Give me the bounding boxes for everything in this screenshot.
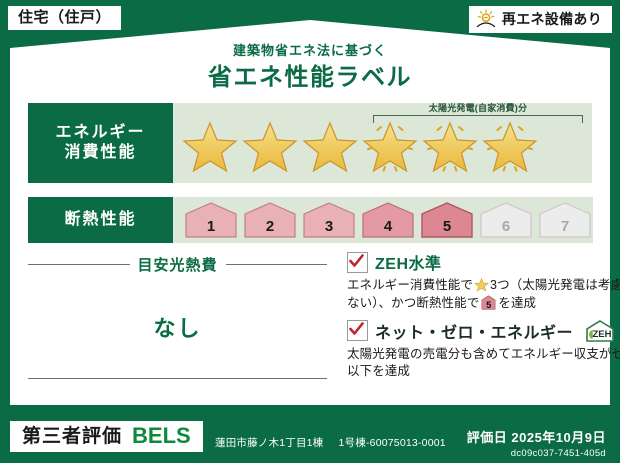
utility-cost-panel: 目安光熱費 なし <box>20 250 335 400</box>
criterion-nze-header: ネット・ゼロ・エネルギー ZEH 「ZEH」 <box>347 319 620 343</box>
evaluation-date-line: 評価日 2025年10月9日 <box>467 427 606 446</box>
evaluation-date-label: 評価日 <box>467 430 508 445</box>
rule-left <box>28 264 130 265</box>
criterion-zeh-title: ZEH水準 <box>375 250 442 274</box>
criteria-panel: ZEH水準 エネルギー消費性能で3つ（太陽光発電は考慮しない）、かつ断熱性能で5… <box>335 250 620 400</box>
house-icon-level-1: 1 <box>183 201 239 239</box>
star-icon-solar <box>421 118 479 174</box>
zeh-desc-part3: を達成 <box>498 296 536 310</box>
insulation-performance-label: 断熱性能 <box>28 197 173 243</box>
insulation-performance-value: 1 2 3 4 5 <box>173 197 593 243</box>
bels-logo: BELS <box>132 425 191 447</box>
rule-right <box>226 264 328 265</box>
energy-label-line2: 消費性能 <box>64 143 136 163</box>
insulation-level-number: 6 <box>478 218 534 235</box>
inline-house-icon: 5 <box>481 295 496 310</box>
insulation-level-scale: 1 2 3 4 5 <box>173 201 593 239</box>
house-icon-level-7: 7 <box>537 201 593 239</box>
insulation-level-number: 1 <box>183 218 239 235</box>
property-address: 蓮田市藤ノ木1丁目1棟 1号棟-60075013-0001 <box>215 435 446 450</box>
star-icon <box>241 118 299 174</box>
evaluation-date-value: 2025年10月9日 <box>511 430 606 445</box>
house-icon-level-2: 2 <box>242 201 298 239</box>
utility-cost-label: 目安光熱費 <box>138 254 218 275</box>
checkbox-net-zero-energy[interactable] <box>347 320 368 341</box>
criterion-nze-title: ネット・ゼロ・エネルギー <box>375 319 573 343</box>
solar-annotation-label: 太陽光発電(自家消費)分 <box>373 101 583 114</box>
footer: 第三者評価 BELS 蓮田市藤ノ木1丁目1棟 1号棟-60075013-0001… <box>0 413 620 463</box>
star-icon <box>181 118 239 174</box>
utility-cost-heading: 目安光熱費 <box>20 254 335 275</box>
utility-cost-bottom-rule <box>28 378 327 379</box>
inline-house-number: 5 <box>481 301 496 310</box>
address-text: 蓮田市藤ノ木1丁目1棟 <box>215 437 323 449</box>
bels-energy-label: 住宅（住戸） 再エネ設備あり 建築物省エネ法に基づく 省エネ性能ラベル エネルギ… <box>0 0 620 463</box>
sun-icon <box>475 9 497 29</box>
zeh-desc-part1: エネルギー消費性能で <box>347 278 473 292</box>
insulation-level-number: 5 <box>419 218 475 235</box>
insulation-level-number: 3 <box>301 218 357 235</box>
renewable-equipment-badge: 再エネ設備あり <box>469 6 612 33</box>
star-rating <box>173 118 539 174</box>
building-type-badge: 住宅（住戸） <box>8 6 121 30</box>
insulation-level-number: 2 <box>242 218 298 235</box>
energy-performance-row: エネルギー 消費性能 太陽光発電(自家消費)分 <box>28 103 592 183</box>
star-icon <box>301 118 359 174</box>
energy-label-line1: エネルギー <box>55 123 145 143</box>
renewable-badge-label: 再エネ設備あり <box>502 12 602 26</box>
criterion-zeh-description: エネルギー消費性能で3つ（太陽光発電は考慮しない）、かつ断熱性能で5を達成 <box>347 277 620 313</box>
criterion-zeh-level: ZEH水準 エネルギー消費性能で3つ（太陽光発電は考慮しない）、かつ断熱性能で5… <box>347 250 620 313</box>
star-icon-solar <box>361 118 419 174</box>
evaluation-code: dc09c037-7451-405d <box>467 448 606 459</box>
house-icon-level-5: 5 <box>419 201 475 239</box>
house-icon-level-4: 4 <box>360 201 416 239</box>
bels-certification-badge: 第三者評価 BELS <box>10 421 203 452</box>
criterion-zeh-header: ZEH水準 <box>347 250 620 274</box>
third-party-label: 第三者評価 <box>22 427 122 446</box>
energy-performance-label: エネルギー 消費性能 <box>28 103 173 183</box>
energy-performance-value: 太陽光発電(自家消費)分 <box>173 103 592 183</box>
zeh-house-logo-icon: ZEH 「ZEH」 <box>584 319 620 343</box>
inline-star-icon <box>474 277 489 292</box>
lower-section: 目安光熱費 なし ZEH水準 エネルギー消費性能で3つ（太陽光発電は考慮しない）… <box>20 250 600 400</box>
evaluation-info: 評価日 2025年10月9日 dc09c037-7451-405d <box>467 427 606 459</box>
insulation-performance-row: 断熱性能 1 2 3 4 <box>28 197 592 243</box>
zeh-desc-stars: 3つ <box>490 278 510 292</box>
svg-text:ZEH: ZEH <box>593 329 612 340</box>
star-icon-solar <box>481 118 539 174</box>
insulation-level-number: 4 <box>360 218 416 235</box>
page-title: 省エネ性能ラベル <box>0 57 620 92</box>
house-icon-level-3: 3 <box>301 201 357 239</box>
criterion-net-zero-energy: ネット・ゼロ・エネルギー ZEH 「ZEH」 太陽光発電の売電分も含めてエネルギ… <box>347 319 620 382</box>
checkbox-zeh-level[interactable] <box>347 252 368 273</box>
criterion-nze-description: 太陽光発電の売電分も含めてエネルギー収支がゼロ以下を達成 <box>347 346 620 382</box>
insulation-level-number: 7 <box>537 218 593 235</box>
house-icon-level-6: 6 <box>478 201 534 239</box>
building-number: 1号棟-60075013-0001 <box>339 437 446 449</box>
utility-cost-value: なし <box>20 311 335 343</box>
